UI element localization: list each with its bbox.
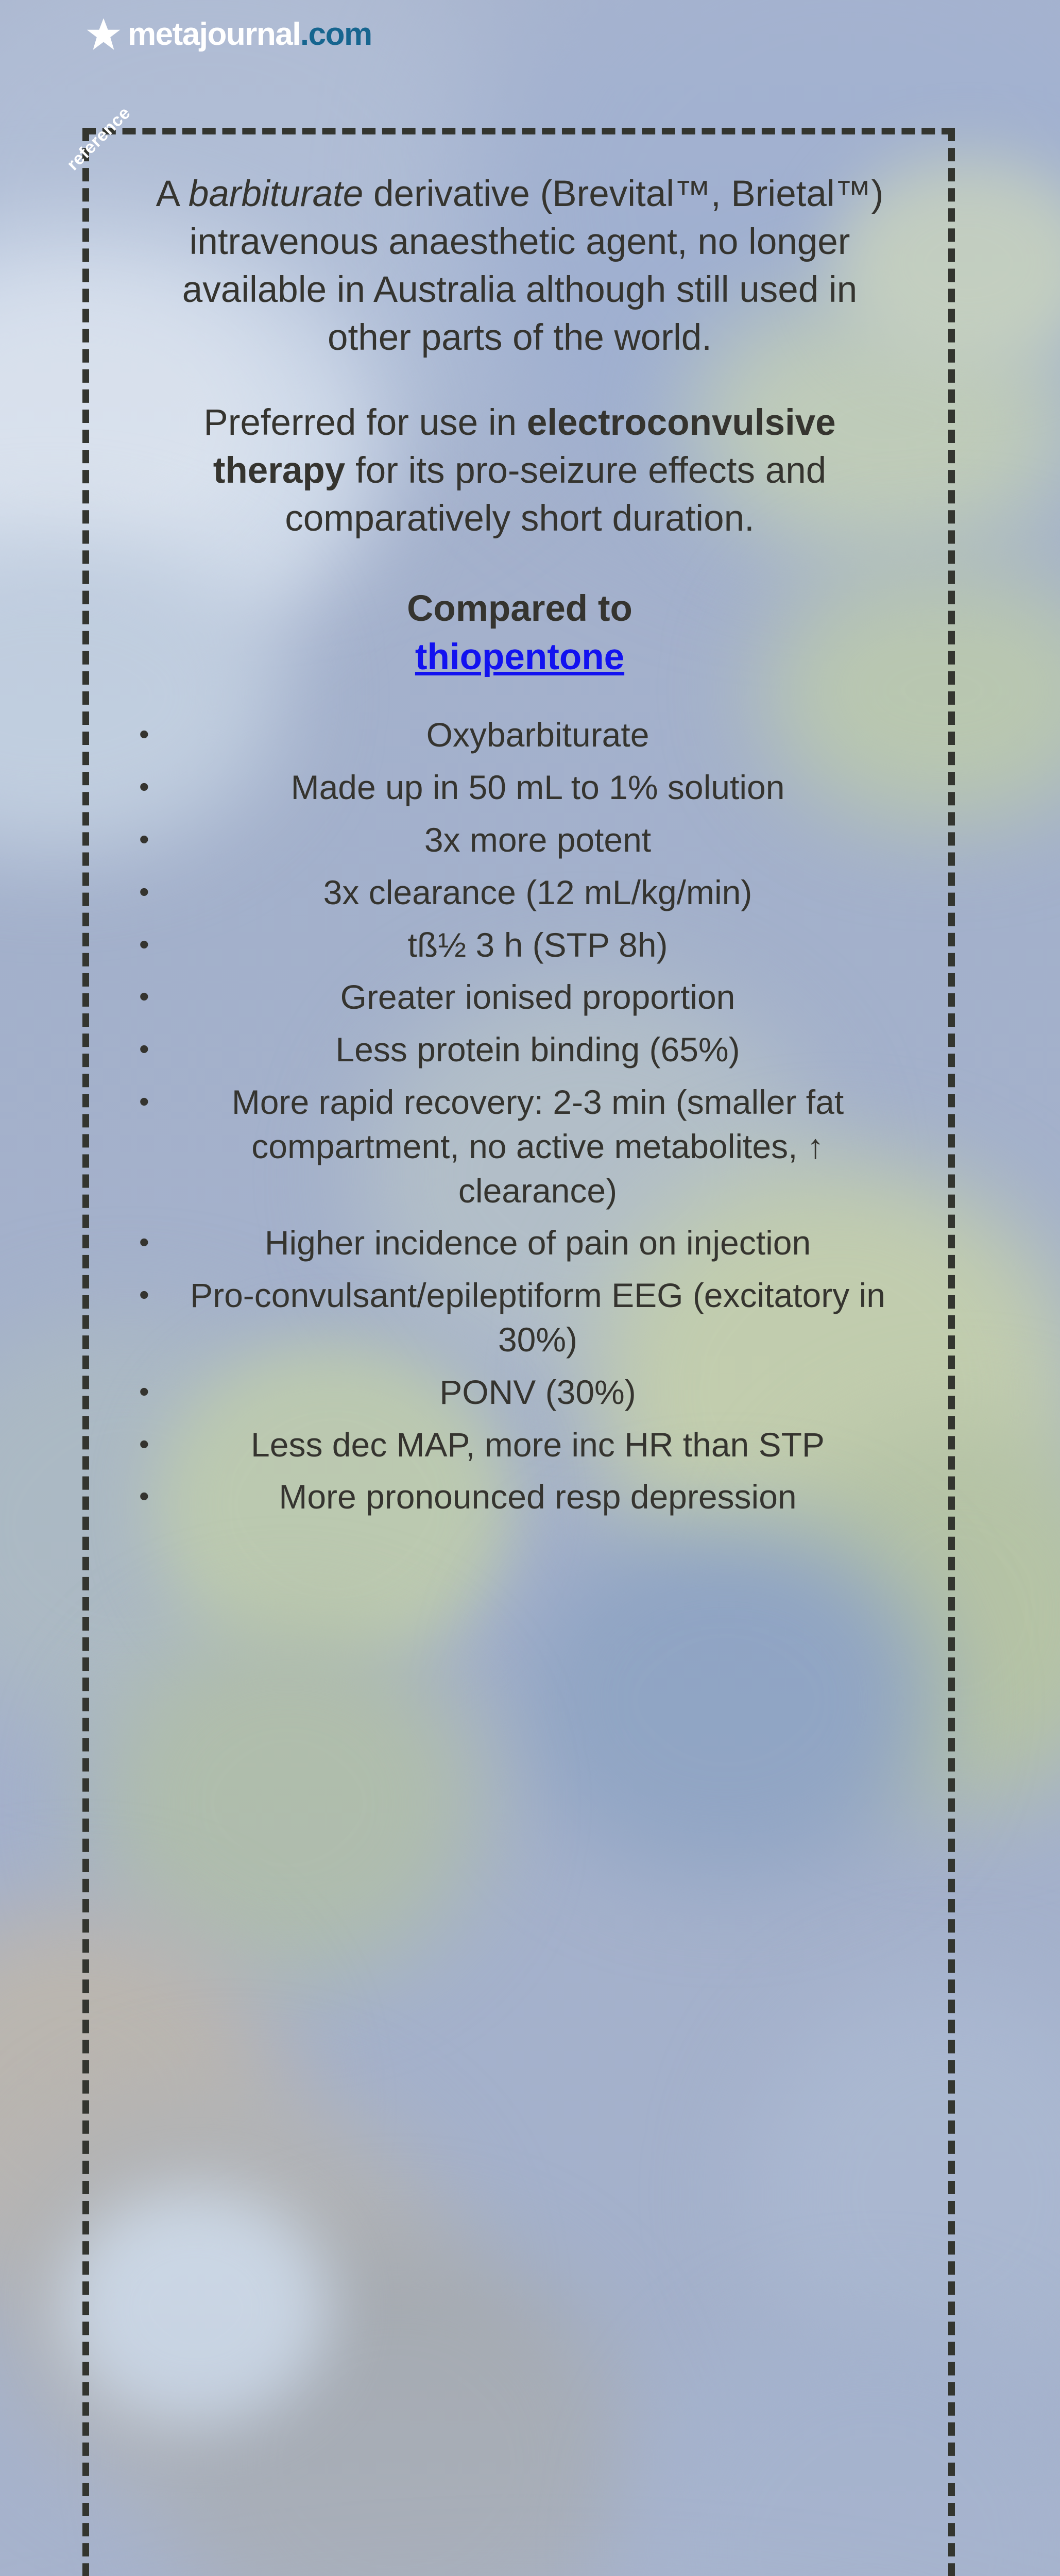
list-item: tß½ 3 h (STP 8h)	[126, 923, 914, 968]
thiopentone-link[interactable]: thiopentone	[415, 633, 624, 682]
list-item: Less dec MAP, more inc HR than STP	[126, 1423, 914, 1467]
star-icon	[87, 18, 121, 52]
list-item: Greater ionised proportion	[126, 975, 914, 1020]
brand-name: metajournal	[128, 16, 300, 52]
paragraph-2-post: for its pro-seizure effects and comparat…	[285, 450, 826, 539]
paragraph-indication: Preferred for use in electroconvulsive t…	[126, 399, 914, 543]
list-item: Less protein binding (65%)	[126, 1028, 914, 1072]
paragraph-description: A barbiturate derivative (Brevital™, Bri…	[126, 170, 914, 362]
comparison-bullet-list: Oxybarbiturate Made up in 50 mL to 1% so…	[126, 713, 914, 1519]
compared-to-heading: Compared to thiopentone	[126, 585, 914, 681]
paragraph-2-pre: Preferred for use in	[203, 402, 526, 443]
list-item: Higher incidence of pain on injection	[126, 1221, 914, 1265]
brand-wordmark: metajournal.com	[128, 19, 372, 50]
list-item: Oxybarbiturate	[126, 713, 914, 757]
list-item: More rapid recovery: 2-3 min (smaller fa…	[126, 1080, 914, 1213]
paragraph-1-pre: A	[156, 174, 189, 214]
list-item: 3x clearance (12 mL/kg/min)	[126, 871, 914, 915]
brand-logo[interactable]: metajournal.com	[87, 11, 372, 58]
list-item: More pronounced resp depression	[126, 1475, 914, 1519]
list-item: 3x more potent	[126, 818, 914, 862]
list-item: Made up in 50 mL to 1% solution	[126, 766, 914, 810]
compared-to-label: Compared to	[126, 585, 914, 633]
list-item: PONV (30%)	[126, 1370, 914, 1415]
list-item: Pro-convulsant/epileptiform EEG (excitat…	[126, 1274, 914, 1362]
paragraph-1-italic-term: barbiturate	[189, 174, 363, 214]
brand-tld: .com	[300, 16, 372, 52]
card-content: A barbiturate derivative (Brevital™, Bri…	[126, 170, 914, 1528]
